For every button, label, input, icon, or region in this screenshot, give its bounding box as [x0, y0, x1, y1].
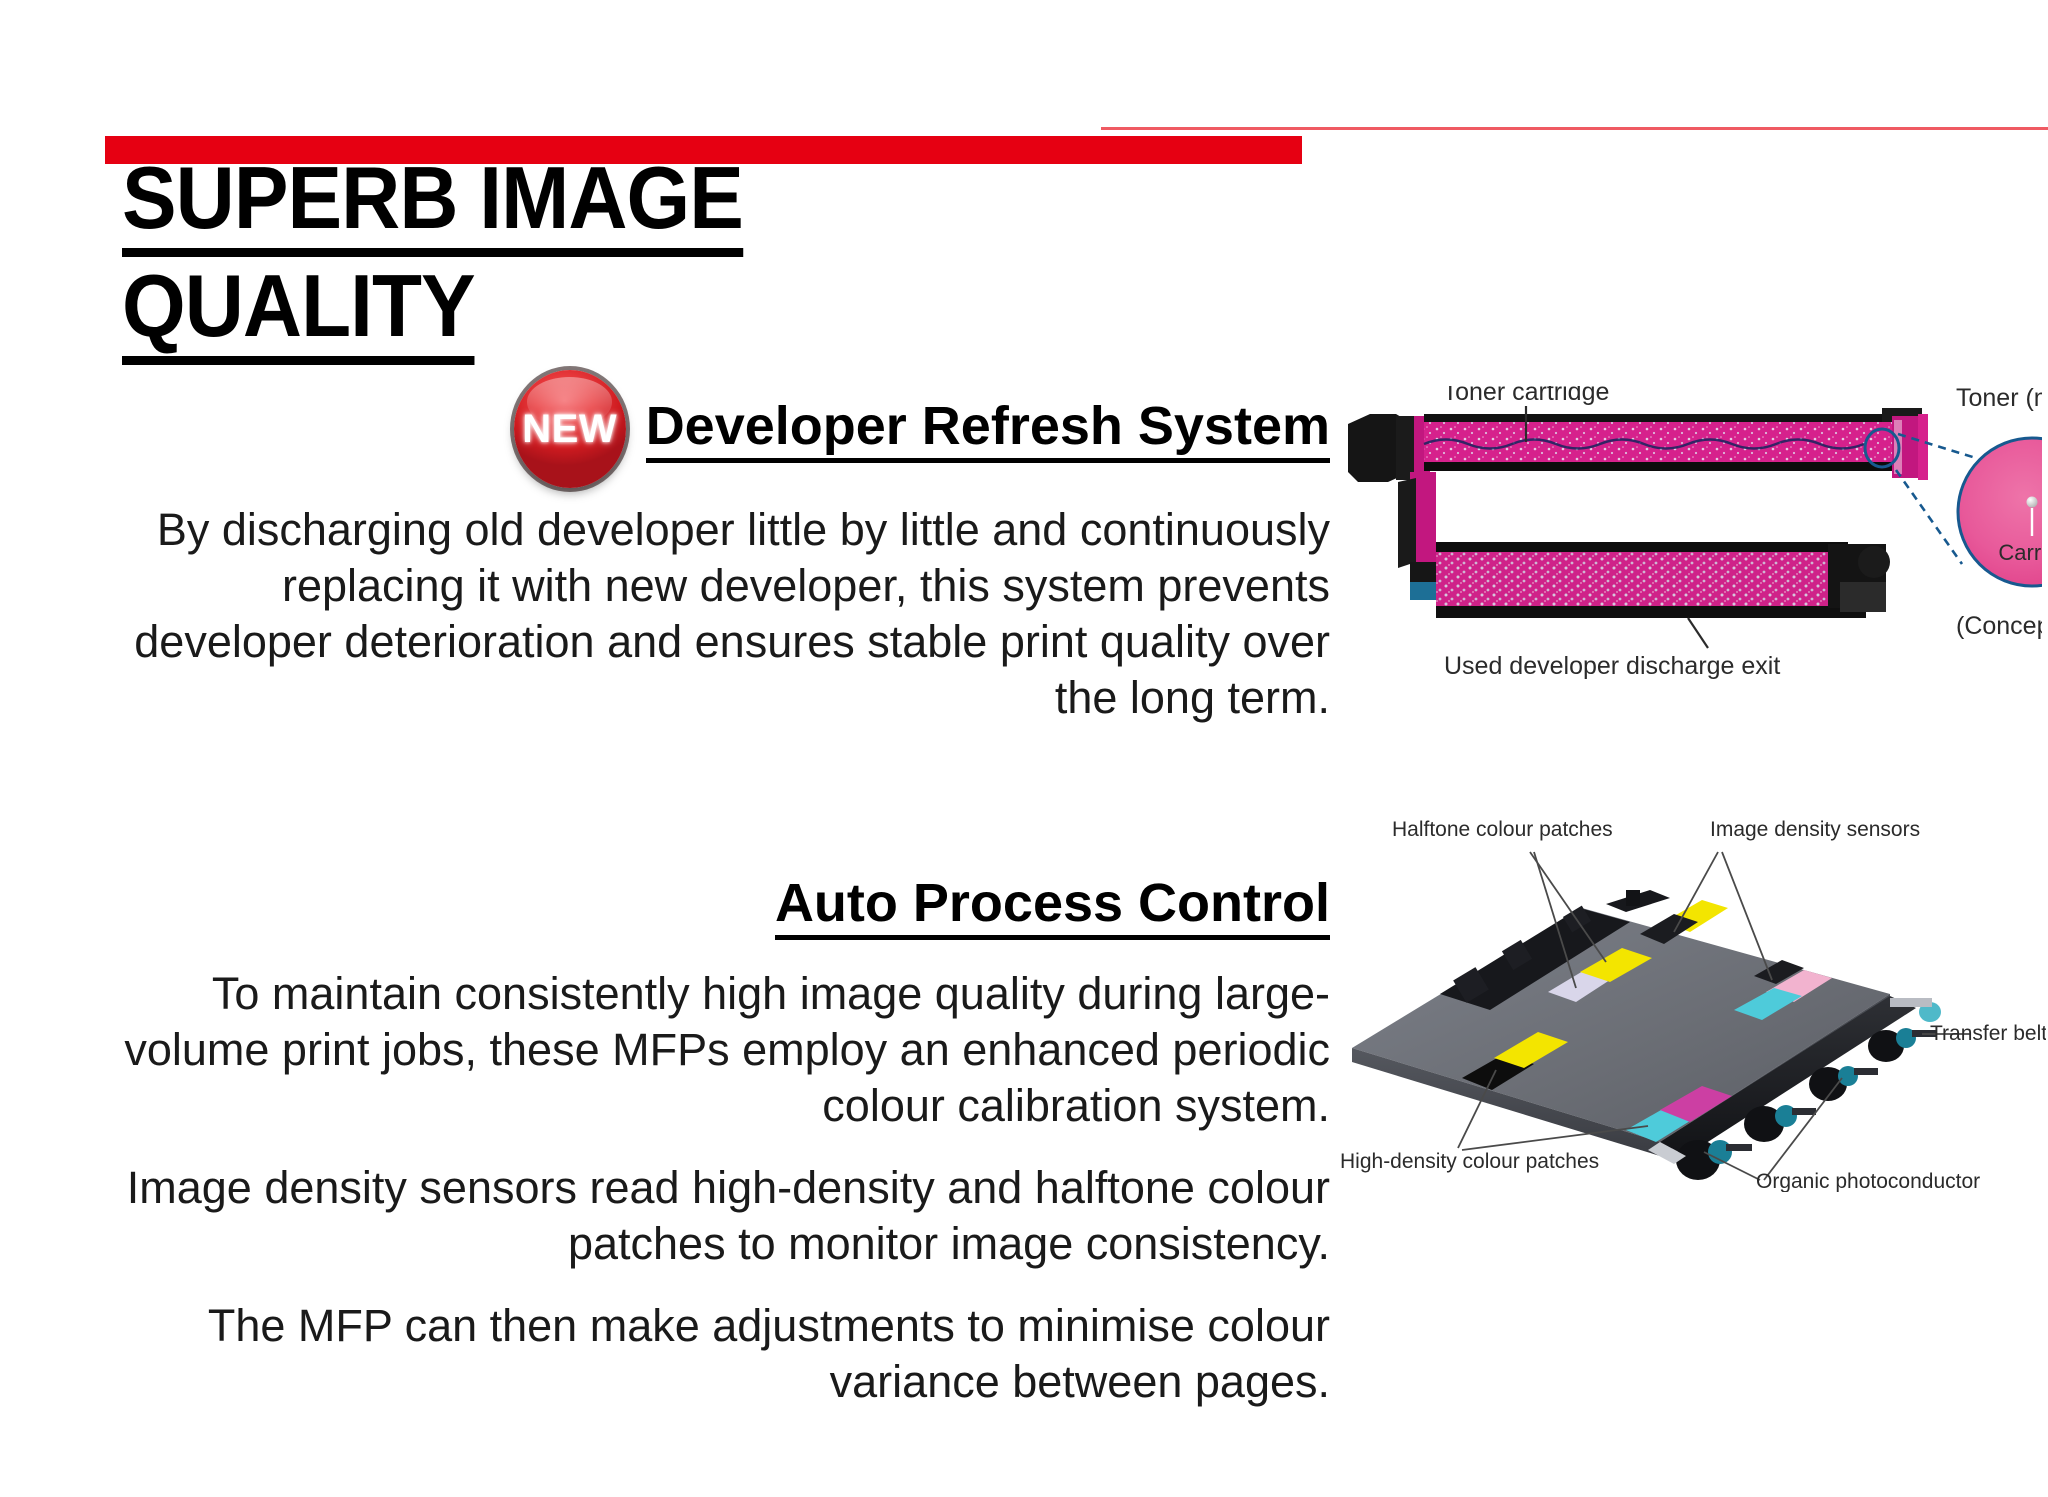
- callout-line-bottom: [1896, 470, 1962, 564]
- roller-2: [1744, 1105, 1816, 1142]
- carrier-conceptual-circle: Carrier: [1958, 438, 2042, 586]
- leader-used-developer: [1688, 618, 1708, 648]
- label-toner-magenta: Toner (magenta): [1956, 386, 2042, 412]
- roller-3: [1809, 1066, 1878, 1101]
- roller-1: [1676, 1140, 1752, 1180]
- label-halftone-patches: Halftone colour patches: [1392, 818, 1613, 841]
- section-2-paragraph-1: To maintain consistently high image qual…: [100, 966, 1330, 1134]
- label-toner-cartridge: Toner cartridge: [1443, 386, 1610, 406]
- header-thin-rule: [1101, 127, 2048, 130]
- belt-slab: [1352, 908, 1890, 1156]
- label-transfer-belt: Transfer belt: [1930, 1022, 2046, 1045]
- section-developer-refresh: NEW Developer Refresh System By discharg…: [100, 370, 1330, 726]
- slide-title-line-2: QUALITY: [122, 260, 475, 365]
- used-developer-roller: [1436, 542, 1890, 618]
- roller-4: [1868, 1028, 1936, 1062]
- section-auto-process-control: Auto Process Control To maintain consist…: [100, 872, 1330, 1410]
- label-organic-photoconductor: Organic photoconductor: [1756, 1170, 1980, 1192]
- content-column: NEW Developer Refresh System By discharg…: [100, 370, 1330, 1410]
- toner-cartridge-upper-body: [1348, 408, 1928, 482]
- section-2-heading: Auto Process Control: [775, 872, 1330, 940]
- section-1-paragraph-1: By discharging old developer little by l…: [100, 502, 1330, 726]
- slide-title: SUPERB IMAGE QUALITY: [122, 152, 1222, 368]
- transfer-belt-diagram: Halftone colour patches Image density se…: [1330, 812, 2046, 1192]
- section-2-paragraph-3: The MFP can then make adjustments to min…: [100, 1298, 1330, 1410]
- label-conceptual-image: (Conceptual image): [1956, 612, 2042, 640]
- new-badge-icon: NEW: [514, 370, 626, 488]
- section-2-heading-row: Auto Process Control: [100, 872, 1330, 940]
- label-image-density-sensors: Image density sensors: [1710, 818, 1920, 841]
- section-1-heading-row: NEW Developer Refresh System: [100, 370, 1330, 488]
- new-badge-label: NEW: [522, 409, 617, 449]
- label-high-density-patches: High-density colour patches: [1340, 1150, 1599, 1173]
- section-1-heading: Developer Refresh System: [646, 395, 1330, 463]
- label-used-developer: Used developer discharge exit: [1444, 652, 1780, 680]
- slide-title-line-1: SUPERB IMAGE: [122, 152, 743, 257]
- carrier-label: Carrier: [1998, 540, 2042, 565]
- toner-cartridge-diagram: Carrier Toner cartridge Used developer d…: [1336, 386, 2042, 716]
- section-2-paragraph-2: Image density sensors read high-density …: [100, 1160, 1330, 1272]
